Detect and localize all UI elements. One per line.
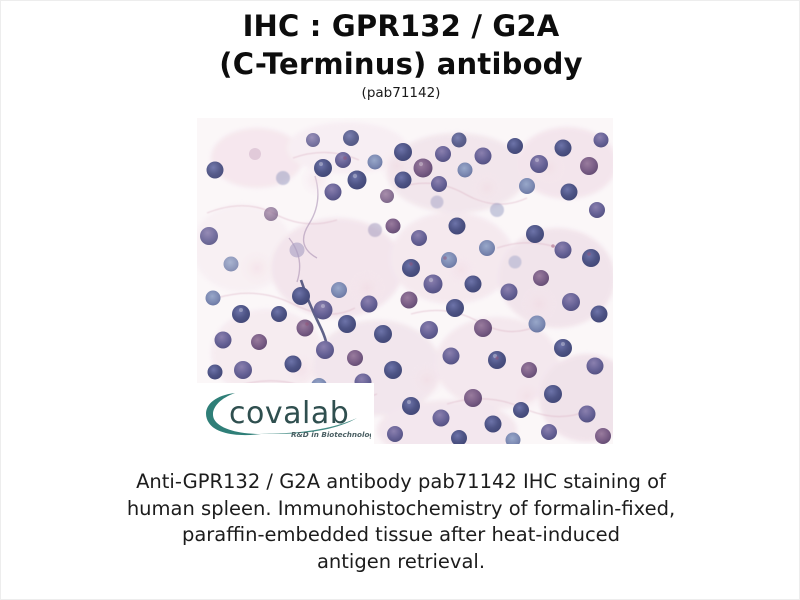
caption-line-4: antigen retrieval. (101, 549, 701, 576)
covalab-wordmark: covalab (229, 396, 349, 431)
title-line-1: IHC : GPR132 / G2A (1, 7, 800, 45)
title-line-2: (C-Terminus) antibody (1, 45, 800, 83)
catalog-number: (pab71142) (1, 84, 800, 102)
caption-line-2: human spleen. Immunohistochemistry of fo… (101, 496, 701, 523)
covalab-watermark: covalab R&D in Biotechnology (197, 383, 374, 444)
figure-page: IHC : GPR132 / G2A (C-Terminus) antibody… (0, 0, 800, 600)
covalab-logo: covalab R&D in Biotechnology (199, 387, 371, 441)
caption-line-3: paraffin-embedded tissue after heat-indu… (101, 522, 701, 549)
covalab-tagline: R&D in Biotechnology (291, 430, 371, 439)
ihc-micrograph: covalab R&D in Biotechnology (197, 118, 613, 444)
caption-line-1: Anti-GPR132 / G2A antibody pab71142 IHC … (101, 469, 701, 496)
page-title: IHC : GPR132 / G2A (C-Terminus) antibody… (1, 7, 800, 102)
figure-caption: Anti-GPR132 / G2A antibody pab71142 IHC … (101, 469, 701, 575)
